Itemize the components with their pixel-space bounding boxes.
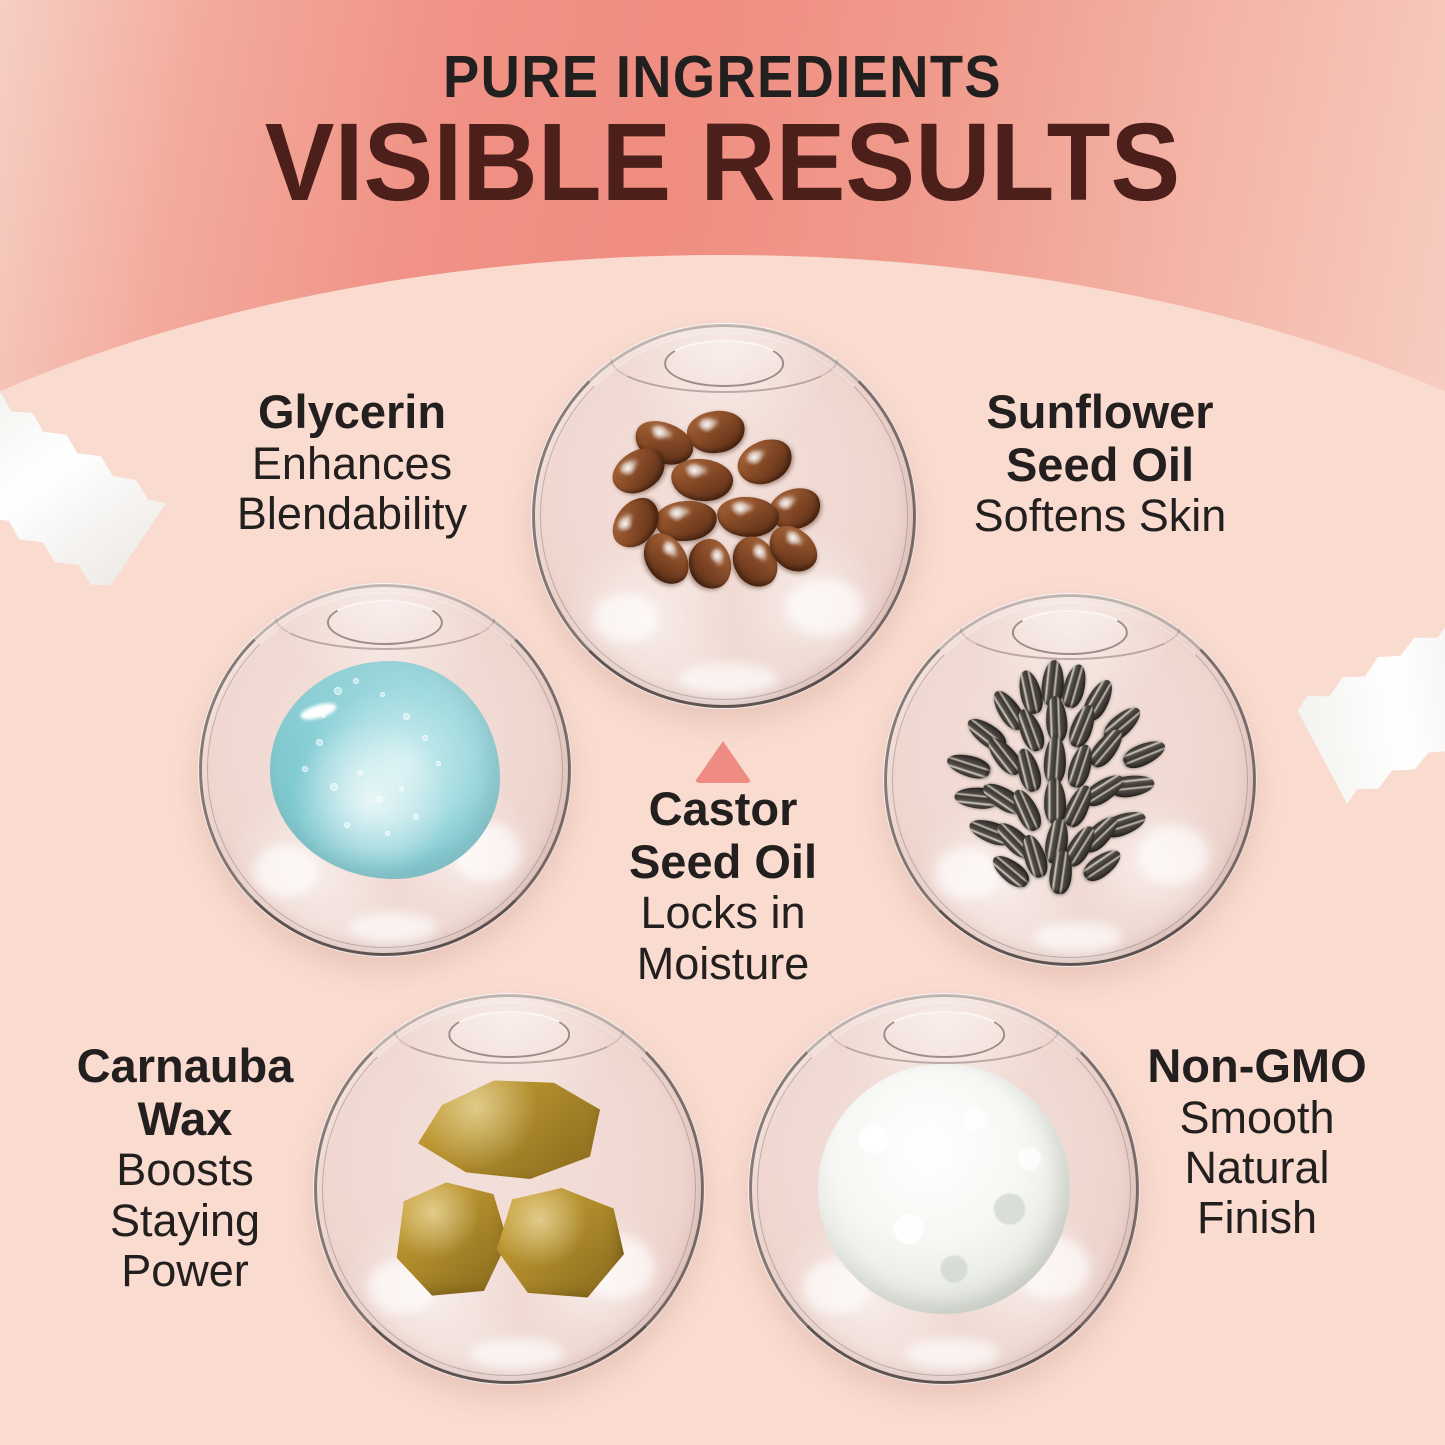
sphere-highlight [470,1338,564,1369]
label-glycerin-line1: Enhances [167,439,537,489]
gel-bubble [376,796,383,803]
label-sunflower-line1: Softens Skin [915,491,1285,541]
sunflower-seed [1120,735,1169,772]
sphere-highlight [678,663,778,694]
label-nongmo-line3: Finish [1097,1193,1417,1243]
powder-mound [818,1064,1070,1314]
wax-chunk [494,1188,624,1302]
label-carnauba-title-line2: Wax [25,1093,345,1146]
sphere-neck-inner [883,1011,1005,1058]
gel-bubble [321,713,326,718]
label-nongmo-title: Non-GMO [1097,1040,1417,1093]
powder-body [818,1064,1070,1314]
gel-bubble [357,770,363,776]
gel-bubble [399,787,404,792]
gel-bubble [330,783,338,791]
gel-bubble [334,687,342,695]
sphere-neck-inner [327,600,443,645]
label-castor-line1: Locks in [573,888,873,938]
label-sunflower: Sunflower Seed Oil Softens Skin [915,386,1285,542]
gel-body [270,661,500,879]
gel-bubble [380,692,385,697]
headline-kicker: PURE INGREDIENTS [58,48,1387,107]
gel-gleam [299,700,338,723]
wax-chunk [392,1180,510,1298]
sphere-castor-seeds [531,323,917,709]
label-nongmo-line2: Natural [1097,1143,1417,1193]
sunflower-seed-pile [946,660,1194,900]
castor-seed [684,407,747,457]
wax-chunk-group [390,1076,628,1302]
label-carnauba-title-line1: Carnauba [25,1040,345,1093]
sphere-sunflower-seeds [883,593,1257,967]
gel-bubble [422,735,428,741]
sphere-neck-inner [1012,610,1128,655]
label-sunflower-title-line2: Seed Oil [915,439,1285,492]
sphere-highlight [1033,922,1123,952]
castor-seed [684,535,735,593]
gel-bubble [436,761,441,766]
sphere-neck-inner [664,340,784,386]
label-carnauba-line2: Staying [25,1196,345,1246]
sunflower-seed [1012,746,1044,794]
label-glycerin: Glycerin Enhances Blendability [167,386,537,539]
label-glycerin-title: Glycerin [167,386,537,439]
gel-bubble [302,766,308,772]
sphere-neck-inner [448,1011,570,1058]
sunflower-seed [944,750,992,782]
wax-chunk [406,1076,606,1188]
sphere-nongmo-powder [748,993,1140,1385]
gel-bubble [413,814,419,820]
gel-bubble [316,739,323,746]
label-carnauba-line3: Power [25,1246,345,1296]
sphere-highlight [905,1338,999,1369]
headline-main: VISIBLE RESULTS [36,108,1409,218]
sphere-highlight [348,912,438,942]
label-sunflower-title-line1: Sunflower [915,386,1285,439]
label-carnauba-line1: Boosts [25,1145,345,1195]
castor-seed [731,431,799,492]
label-castor-line2: Moisture [573,939,873,989]
label-carnauba: Carnauba Wax Boosts Staying Power [25,1040,345,1296]
label-castor: Castor Seed Oil Locks in Moisture [573,783,873,989]
ingredient-infographic: PURE INGREDIENTS VISIBLE RESULTS [0,0,1445,1445]
gel-bubble [385,831,390,836]
gel-bubble [403,713,410,720]
label-nongmo: Non-GMO Smooth Natural Finish [1097,1040,1417,1244]
sphere-carnauba-wax [313,993,705,1385]
gel-bubble [344,822,350,828]
glycerin-gel-blob [270,661,500,879]
label-glycerin-line2: Blendability [167,489,537,539]
powder-texture [818,1064,1070,1314]
castor-seed-cluster [609,411,839,621]
sphere-glycerin-gel [198,583,572,957]
label-castor-title-line1: Castor [573,783,873,836]
gel-bubble [353,678,359,684]
label-castor-title-line2: Seed Oil [573,836,873,889]
label-nongmo-line1: Smooth [1097,1093,1417,1143]
castor-seed [669,456,735,504]
